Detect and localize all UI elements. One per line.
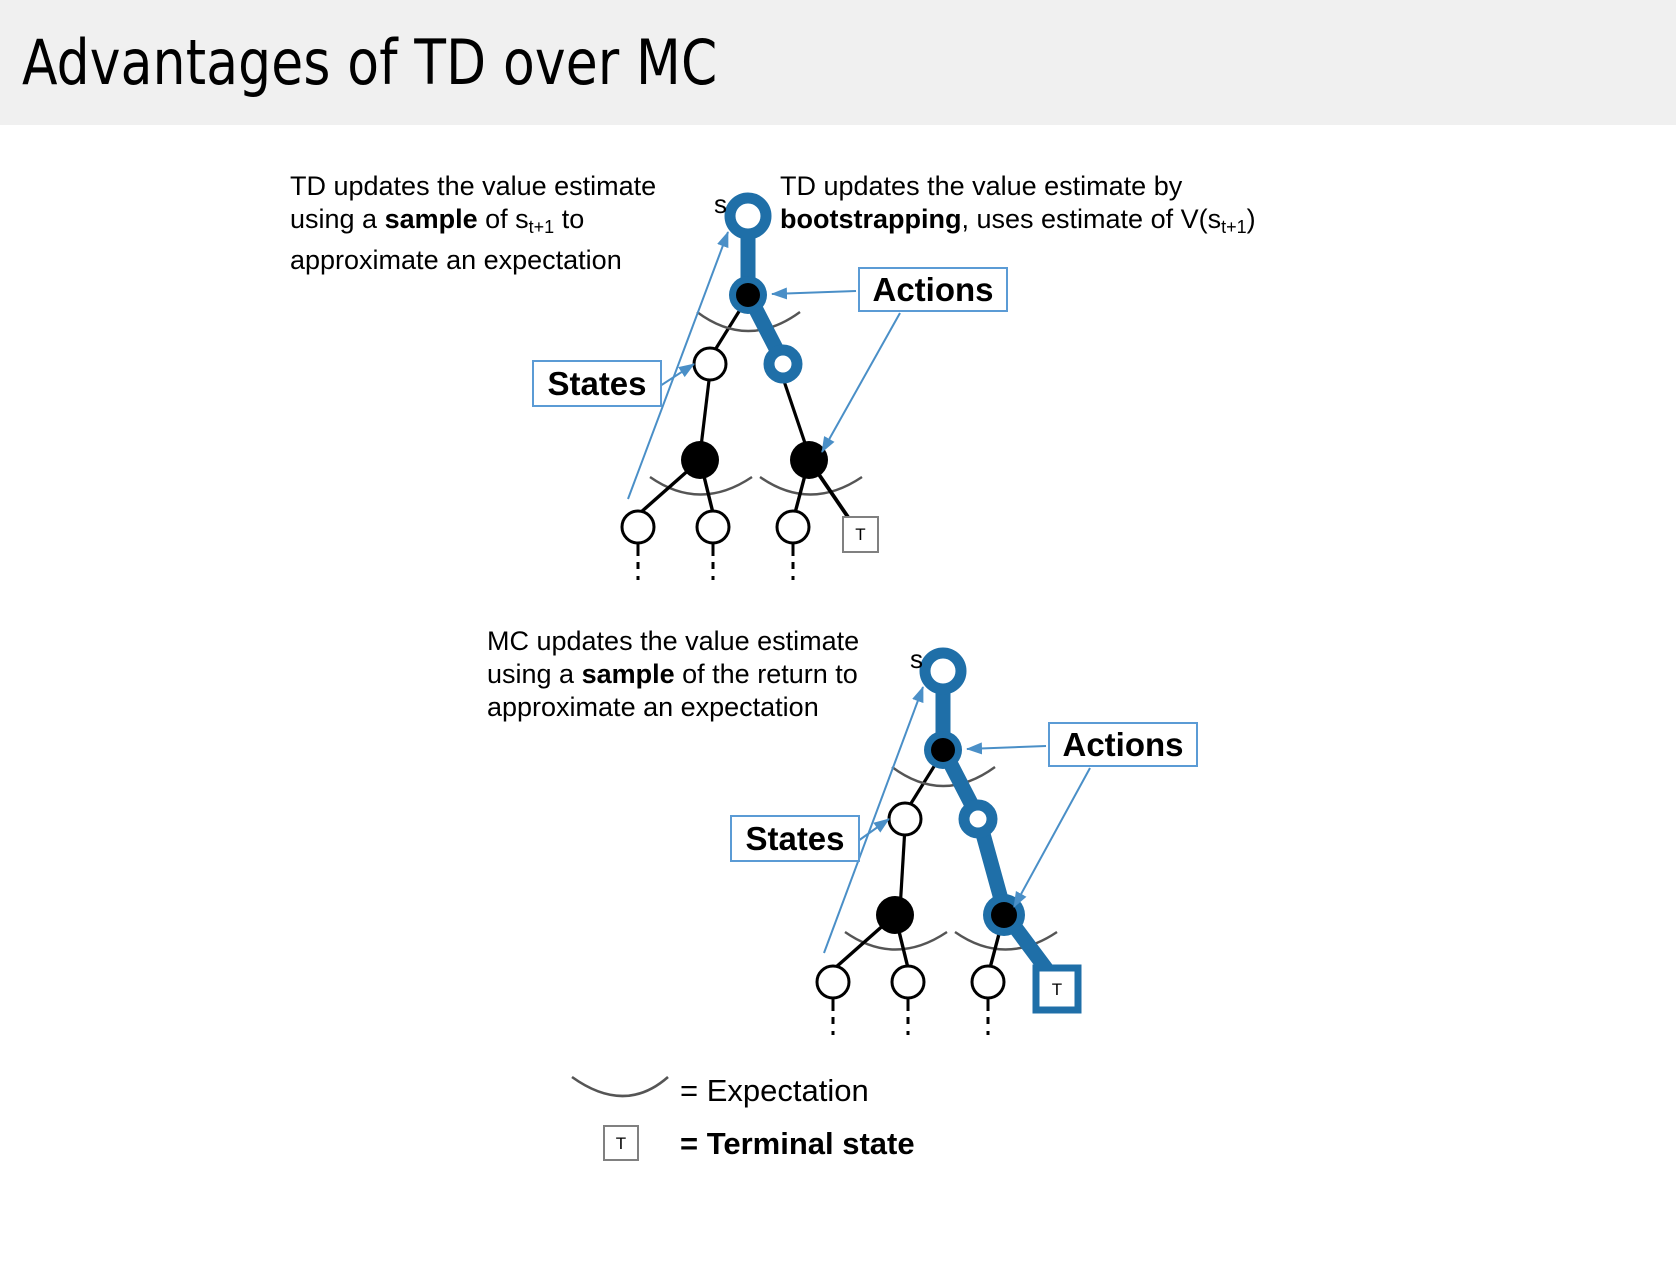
mc-arrow-states-to-node (858, 819, 889, 841)
mc-leaf-state-3 (972, 966, 1004, 998)
td-root-state-label: s (714, 189, 727, 220)
td-edge-a3-leaf3 (795, 460, 809, 513)
td-expectation-arc-2 (650, 477, 752, 495)
td-highlight-edge-action-state (750, 298, 783, 362)
td-boot-subscript: t+1 (1221, 217, 1247, 237)
mc-sample-line2-post: of the return to (675, 659, 858, 689)
page-title: Advantages of TD over MC (22, 26, 717, 99)
td-actions-callout: Actions (858, 267, 1008, 312)
td-sample-line2-post: to (554, 204, 584, 234)
td-states-callout: States (532, 360, 662, 407)
mc-expectation-arc-2 (845, 932, 947, 950)
mc-terminal-state-letter: T (1052, 980, 1062, 999)
mc-action-node-1 (931, 738, 955, 762)
td-edge-a3-terminal (809, 460, 850, 520)
td-edge-a2-leaf2 (700, 460, 713, 513)
mc-action-node-2 (876, 896, 914, 934)
mc-sample-line3: approximate an expectation (487, 692, 819, 722)
td-sample-description: TD updates the value estimate using a sa… (290, 170, 690, 277)
td-sample-bold: sample (385, 204, 478, 234)
td-sample-line1: TD updates the value estimate (290, 171, 656, 201)
legend-expectation-label: = Expectation (680, 1073, 869, 1109)
td-action-node-1 (736, 283, 760, 307)
mc-edge-a1-left (905, 752, 943, 813)
mc-terminal-state-box (1036, 968, 1078, 1010)
mc-sample-bold: sample (582, 659, 675, 689)
td-root-state-node (730, 198, 766, 234)
mc-leaf-state-2 (892, 966, 924, 998)
td-action-node-ring (729, 276, 767, 314)
mc-arrow-actions-to-node1 (967, 746, 1046, 749)
td-boot-line2-post: ) (1247, 204, 1256, 234)
td-boot-bold: bootstrapping (780, 204, 961, 234)
td-arrow-actions-to-node1 (772, 291, 856, 294)
mc-highlight-edge-action2-terminal (1006, 915, 1053, 978)
mc-root-state-node (925, 653, 961, 689)
mc-action-node-3 (991, 902, 1017, 928)
slide-canvas: Advantages of TD over MC TD updates the … (0, 0, 1676, 1270)
td-bootstrap-description: TD updates the value estimate by bootstr… (780, 170, 1300, 244)
td-sample-line2-pre: using a (290, 204, 385, 234)
td-edge-a1-left (710, 297, 748, 358)
mc-action-node-ring (924, 731, 962, 769)
mc-expectation-arc-3 (955, 932, 1057, 950)
mc-arrow-actions-to-node3 (1014, 768, 1090, 907)
mc-root-state-label: s (910, 644, 923, 675)
td-terminal-state-box (843, 517, 878, 552)
td-sample-line2-mid: of s (478, 204, 529, 234)
td-edge-a2-leaf1 (640, 460, 700, 513)
td-expectation-arc-1 (697, 312, 800, 331)
td-leaf-state-1 (622, 511, 654, 543)
mc-sample-description: MC updates the value estimate using a sa… (487, 625, 887, 724)
td-arrow-actions-to-node3 (822, 313, 900, 452)
mc-expectation-arc-1 (892, 767, 995, 786)
mc-sample-line2-pre: using a (487, 659, 582, 689)
legend-expectation-arc-icon (572, 1077, 668, 1096)
td-expectation-arc-3 (760, 477, 862, 495)
td-action-node-2 (681, 441, 719, 479)
mc-leaf-state-1 (817, 966, 849, 998)
mc-edge-a2-leaf1 (835, 915, 895, 968)
td-leaf-state-2 (697, 511, 729, 543)
td-sample-line3: approximate an expectation (290, 245, 622, 275)
mc-sample-line1: MC updates the value estimate (487, 626, 859, 656)
mc-edge-a3-leaf3 (990, 915, 1004, 968)
mc-action-node-3-ring (983, 894, 1025, 936)
legend-terminal-box-icon (604, 1126, 638, 1160)
mc-states-callout: States (730, 815, 860, 862)
mc-highlight-edge-action-state (945, 753, 978, 817)
td-terminal-state-letter: T (855, 525, 865, 544)
mc-state-node-right-highlighted (964, 805, 992, 833)
mc-edge-a2-leaf2 (895, 915, 908, 968)
mc-highlight-edge-state-action2 (980, 823, 1004, 910)
mc-actions-callout: Actions (1048, 722, 1198, 767)
legend-terminal-label: = Terminal state (680, 1126, 915, 1162)
td-leaf-state-3 (777, 511, 809, 543)
td-arrow-states-to-node (660, 364, 694, 386)
legend-terminal-box-letter: T (616, 1134, 626, 1153)
td-state-node-right-highlighted (769, 350, 797, 378)
td-sample-subscript: t+1 (529, 217, 555, 237)
td-action-node-3 (790, 441, 828, 479)
td-edge-s-right-down (783, 378, 809, 455)
mc-state-node-left (889, 803, 921, 835)
td-state-node-left (694, 348, 726, 380)
mc-edge-s-left-down (900, 827, 905, 910)
td-boot-line1: TD updates the value estimate by (780, 171, 1182, 201)
td-boot-line2-mid: , uses estimate of V(s (961, 204, 1221, 234)
td-edge-s-left-down (700, 372, 710, 455)
